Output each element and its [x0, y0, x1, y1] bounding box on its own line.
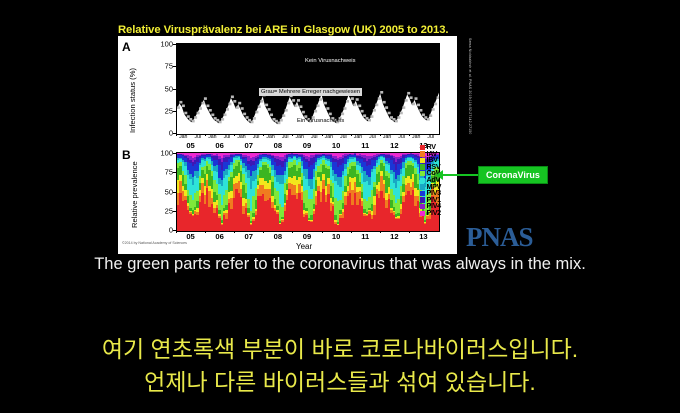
panel-a-grey-band [187, 115, 190, 118]
panel-a-grey-band [226, 108, 229, 111]
x-tick [380, 134, 381, 136]
panel-a-grey-band [434, 103, 437, 106]
x-axis-title: Year [296, 242, 312, 251]
x-axis-month-label: Jul [369, 134, 376, 140]
panel-a-grey-band [353, 104, 356, 107]
x-tick [205, 134, 206, 136]
y-tick-label: 50 [165, 187, 173, 196]
x-axis-year-label: 12 [390, 232, 398, 241]
x-axis-month-label: Jul [340, 134, 347, 140]
x-axis-month-label: Jul [195, 134, 202, 140]
panel-b-plot [176, 152, 440, 232]
x-axis-month-label: Jul [398, 134, 405, 140]
legend-swatch [420, 191, 425, 196]
y-tick-label: 100 [160, 40, 173, 49]
panel-a-grey-band [179, 101, 182, 104]
y-tick-label: 25 [165, 206, 173, 215]
panel-a-axis-title: Infection status (%) [128, 68, 137, 133]
subtitle-korean: 여기 연초록색 부분이 바로 코로나바이러스입니다. 언제나 다른 바이러스들과… [0, 333, 680, 399]
pnas-logo: PNAS [466, 224, 533, 251]
coronavirus-callout: CoronaVirus [478, 166, 548, 184]
x-tick [205, 231, 206, 233]
panel-a-grey-band [344, 107, 347, 110]
panel-a-grey-band [400, 112, 403, 115]
x-axis-month-label: Jan [237, 134, 245, 140]
x-axis-year-label: 07 [245, 232, 253, 241]
y-tick-label: 75 [165, 168, 173, 177]
panel-a-grey-band [258, 105, 261, 108]
x-axis-month-label: Jul [224, 134, 231, 140]
screenshot-root: Relative Virusprävalenz bei ARE in Glasg… [0, 0, 680, 413]
x-axis-year-label: 10 [332, 141, 340, 150]
panel-a-grey-band [422, 114, 425, 117]
panel-a-grey-band [314, 110, 317, 113]
panel-a-grey-band [241, 107, 244, 110]
panel-a-grey-band [385, 106, 388, 109]
panel-a-grey-band [251, 121, 254, 124]
annotation-one-virus: Ein Virusnachweis [297, 118, 344, 124]
panel-a-grey-band [302, 111, 305, 114]
panel-b-axis-title: Relative prevalence [130, 161, 139, 228]
panel-a-grey-band [265, 104, 268, 107]
side-citation: Sema Nickbakhsh et al. PNAS 2019;116:52:… [462, 38, 472, 150]
x-axis-year-label: 08 [274, 232, 282, 241]
x-axis-year-label: 05 [186, 232, 194, 241]
panel-a-x-axis: 05JanJul06JanJul07JanJul08JanJul09JanJul… [176, 134, 438, 150]
panel-a-grey-band [282, 114, 285, 117]
x-axis-month-label: Jan [208, 134, 216, 140]
x-tick [176, 231, 177, 233]
panel-a-grey-band [395, 120, 398, 123]
panel-a-grey-band [211, 114, 214, 117]
panel-a-grey-band [233, 100, 236, 103]
panel-a-grey-band [437, 96, 439, 99]
panel-a-grey-band [410, 96, 413, 99]
panel-a-grey-band [255, 111, 258, 114]
x-tick [409, 134, 410, 136]
panel-a-grey-band [407, 92, 410, 95]
x-tick [322, 231, 323, 233]
x-tick [234, 231, 235, 233]
panel-a-grey-band [417, 104, 420, 107]
x-axis-year-label: 07 [245, 141, 253, 150]
panel-a-grey-band [397, 116, 400, 119]
panel-a-grey-band [177, 106, 180, 109]
panel-a-grey-band [378, 97, 381, 100]
panel-a-grey-band [292, 99, 295, 102]
x-tick [322, 134, 323, 136]
x-axis-year-label: 06 [215, 232, 223, 241]
panel-a-grey-band [184, 112, 187, 115]
panel-a-white-area [177, 93, 439, 134]
panel-a-grey-band [297, 99, 300, 102]
x-tick [292, 134, 293, 136]
x-axis-year-label: 09 [303, 232, 311, 241]
panel-a-grey-band [204, 97, 207, 100]
legend-item: PIV2 [420, 210, 454, 217]
y-tick-label: 50 [165, 84, 173, 93]
x-axis-year-label: 13 [419, 232, 427, 241]
panel-a-grey-band [432, 108, 435, 111]
panel-a-grey-band [268, 108, 271, 111]
x-tick [234, 134, 235, 136]
x-axis-year-label: 11 [361, 141, 369, 150]
x-axis-month-label: Jan [412, 134, 420, 140]
panel-b-letter: B [122, 148, 131, 162]
y-tick-label: 25 [165, 106, 173, 115]
legend-label: PIV2 [427, 210, 441, 217]
panel-a-grey-band [231, 96, 234, 99]
x-axis-year-label: 08 [274, 141, 282, 150]
panel-a-grey-band [329, 113, 332, 116]
legend-swatch [420, 184, 425, 189]
panel-a-grey-band [415, 97, 418, 100]
panel-a-grey-band [402, 106, 405, 109]
legend-swatch [420, 164, 425, 169]
x-tick [351, 134, 352, 136]
panel-a-grey-band [388, 112, 391, 115]
panel-a-grey-band [219, 121, 222, 124]
panel-a-grey-band [285, 109, 288, 112]
panel-a-grey-band [192, 120, 195, 123]
panel-a-grey-band [224, 114, 227, 117]
panel-a-grey-band [280, 119, 283, 122]
panel-a-grey-band [383, 101, 386, 104]
x-axis-year-label: 11 [361, 232, 369, 241]
legend: RVIAVIBVRSVCoVAdVMPVPIV3PIV1PIV4PIV2 [420, 144, 454, 217]
x-axis-month-label: Jul [253, 134, 260, 140]
x-tick [380, 231, 381, 233]
panel-a-grey-band [370, 115, 373, 118]
x-tick [409, 231, 410, 233]
figure-copyright: ©2014 by National Academy of Sciences [122, 241, 187, 245]
y-tick-label: 75 [165, 62, 173, 71]
x-axis-month-label: Jul [282, 134, 289, 140]
legend-swatch [420, 211, 425, 216]
panel-a-grey-band [209, 109, 212, 112]
x-axis-month-label: Jan [266, 134, 274, 140]
x-tick [176, 134, 177, 136]
legend-item: RV [420, 144, 454, 151]
panel-a-grey-band [324, 102, 327, 105]
x-tick [351, 231, 352, 233]
panel-a-grey-band [194, 116, 197, 119]
annotation-no-virus: Kein Virusnachweis [305, 58, 355, 64]
panel-a-letter: A [122, 40, 131, 54]
panel-a-grey-band [380, 91, 383, 94]
subtitle-english: The green parts refer to the coronavirus… [0, 252, 680, 277]
legend-swatch [420, 145, 425, 150]
panel-a-grey-band [253, 117, 256, 120]
panel-a-grey-band [197, 112, 200, 115]
legend-swatch [420, 171, 425, 176]
panel-a-grey-band [260, 100, 263, 103]
panel-a-plot: Kein Virusnachweis Grau= Mehrere Erreger… [176, 43, 440, 135]
panel-a-grey-band [299, 105, 302, 108]
x-axis-year-label: 09 [303, 141, 311, 150]
panel-a-grey-band [228, 103, 231, 106]
panel-a-grey-band [429, 114, 432, 117]
subtitle-korean-line-1: 여기 연초록색 부분이 바로 코로나바이러스입니다. [0, 333, 680, 366]
y-tick-label: 100 [160, 149, 173, 158]
panel-a-grey-band [287, 102, 290, 105]
panel-a-grey-band [419, 109, 422, 112]
x-axis-month-label: Jan [383, 134, 391, 140]
panel-a-grey-band [341, 113, 344, 116]
x-tick [263, 231, 264, 233]
panel-a-grey-band [358, 105, 361, 108]
x-axis-year-label: 12 [390, 141, 398, 150]
panel-a-grey-band [270, 114, 273, 117]
panel-a-grey-band [412, 103, 415, 106]
subtitle-korean-line-2: 언제나 다른 바이러스들과 섞여 있습니다. [0, 366, 680, 399]
annotation-multiple-pathogens: Grau= Mehrere Erreger nachgewiesen [259, 88, 362, 96]
x-axis-month-label: Jul [311, 134, 318, 140]
panel-a-grey-band [375, 104, 378, 107]
panel-a-grey-band [363, 114, 366, 117]
x-tick [292, 231, 293, 233]
panel-a-grey-band [368, 119, 371, 122]
panel-a-grey-band [405, 99, 408, 102]
panel-a-grey-band [199, 107, 202, 110]
panel-a-grey-band [346, 100, 349, 103]
x-tick [263, 134, 264, 136]
panel-a-grey-band [206, 105, 209, 108]
panel-a-grey-band [182, 105, 185, 108]
panel-a-grey-band [373, 109, 376, 112]
x-axis-month-label: Jan [354, 134, 362, 140]
panel-a-grey-band [238, 102, 241, 105]
legend-swatch [420, 178, 425, 183]
panel-a-grey-band [319, 98, 322, 101]
panel-a-grey-band [361, 110, 364, 113]
panel-a-grey-band [317, 105, 320, 108]
x-axis-year-label: 06 [215, 141, 223, 150]
x-axis-year-label: 10 [332, 232, 340, 241]
legend-swatch [420, 158, 425, 163]
panel-a-grey-band [243, 113, 246, 116]
x-axis-year-label: 05 [186, 141, 194, 150]
panel-a-grey-band [326, 107, 329, 110]
panel-a-grey-band [295, 105, 298, 108]
legend-swatch [420, 204, 425, 209]
x-axis-month-label: Jan [296, 134, 304, 140]
x-axis-month-label: Jan [325, 134, 333, 140]
panel-a-grey-band [351, 97, 354, 100]
panel-a-grey-band [356, 98, 359, 101]
legend-swatch [420, 151, 425, 156]
panel-a-grey-band [236, 106, 239, 109]
panel-a-grey-band [246, 116, 249, 119]
panel-a-grey-band [427, 118, 430, 121]
figure-card: A Infection status (%) 1007550250 Kein V… [118, 36, 457, 254]
panel-a-grey-band [202, 102, 205, 105]
x-axis-month-label: Jan [179, 134, 187, 140]
legend-swatch [420, 197, 425, 202]
panel-a-grey-band [221, 118, 224, 121]
callout-pointer-line [441, 174, 479, 176]
x-axis-month-label: Jul [427, 134, 434, 140]
panel-a-grey-band [277, 122, 280, 125]
